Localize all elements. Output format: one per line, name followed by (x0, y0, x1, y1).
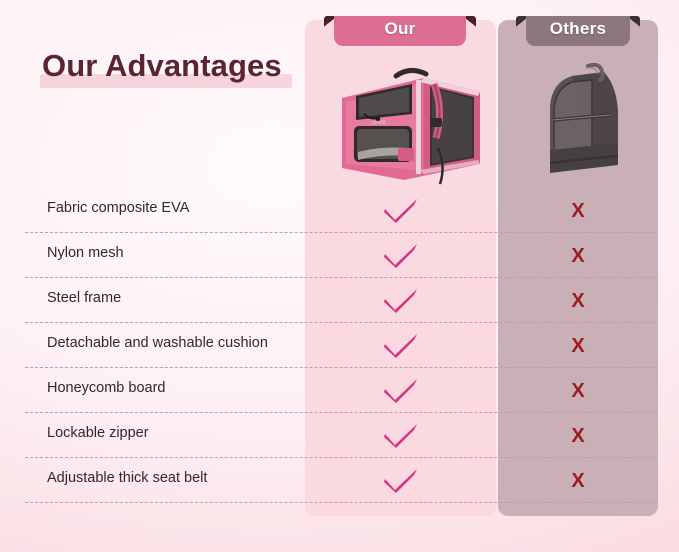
x-icon: X (571, 336, 584, 356)
others-cell: X (498, 458, 658, 503)
others-cell: X (498, 368, 658, 413)
table-row: X Detachable and washable cushion (0, 323, 679, 368)
feature-label: Detachable and washable cushion (47, 335, 268, 351)
table-row: X Lockable zipper (0, 413, 679, 458)
our-cell (305, 368, 496, 413)
table-row: X Honeycomb board (0, 368, 679, 413)
others-product-image (520, 58, 640, 190)
our-cell (305, 233, 496, 278)
others-cell: X (498, 413, 658, 458)
feature-label: Steel frame (47, 290, 121, 306)
page-title: Our Advantages (42, 48, 282, 84)
table-row: X Nylon mesh (0, 233, 679, 278)
our-column-header: Our (324, 8, 476, 46)
check-icon (383, 468, 419, 494)
title-text: Our Advantages (42, 48, 282, 84)
others-cell: X (498, 188, 658, 233)
feature-label: Nylon mesh (47, 245, 124, 261)
check-icon (383, 243, 419, 269)
our-product-image: petsfit (312, 56, 488, 196)
x-icon: X (571, 471, 584, 491)
table-row: X Fabric composite EVA (0, 188, 679, 233)
our-cell (305, 188, 496, 233)
feature-label: Fabric composite EVA (47, 200, 189, 216)
svg-text:petsfit: petsfit (372, 120, 386, 126)
check-icon (383, 288, 419, 314)
row-separator (25, 502, 657, 503)
our-cell (305, 323, 496, 368)
feature-label: Honeycomb board (47, 380, 166, 396)
feature-rows: X Fabric composite EVA X Nylon mesh (0, 188, 679, 503)
check-icon (383, 423, 419, 449)
feature-label: Lockable zipper (47, 425, 149, 441)
x-icon: X (571, 246, 584, 266)
table-row: X Adjustable thick seat belt (0, 458, 679, 503)
others-cell: X (498, 278, 658, 323)
check-icon (383, 378, 419, 404)
feature-label: Adjustable thick seat belt (47, 470, 207, 486)
our-cell (305, 458, 496, 503)
table-row: X Steel frame (0, 278, 679, 323)
check-icon (383, 333, 419, 359)
our-cell (305, 413, 496, 458)
check-icon (383, 198, 419, 224)
our-cell (305, 278, 496, 323)
others-column-header: Others (516, 8, 640, 46)
others-column-label: Others (516, 19, 640, 39)
x-icon: X (571, 291, 584, 311)
x-icon: X (571, 381, 584, 401)
others-cell: X (498, 233, 658, 278)
our-column-label: Our (324, 19, 476, 39)
x-icon: X (571, 426, 584, 446)
x-icon: X (571, 201, 584, 221)
comparison-chart: Our Advantages Our Others (0, 0, 679, 552)
others-cell: X (498, 323, 658, 368)
